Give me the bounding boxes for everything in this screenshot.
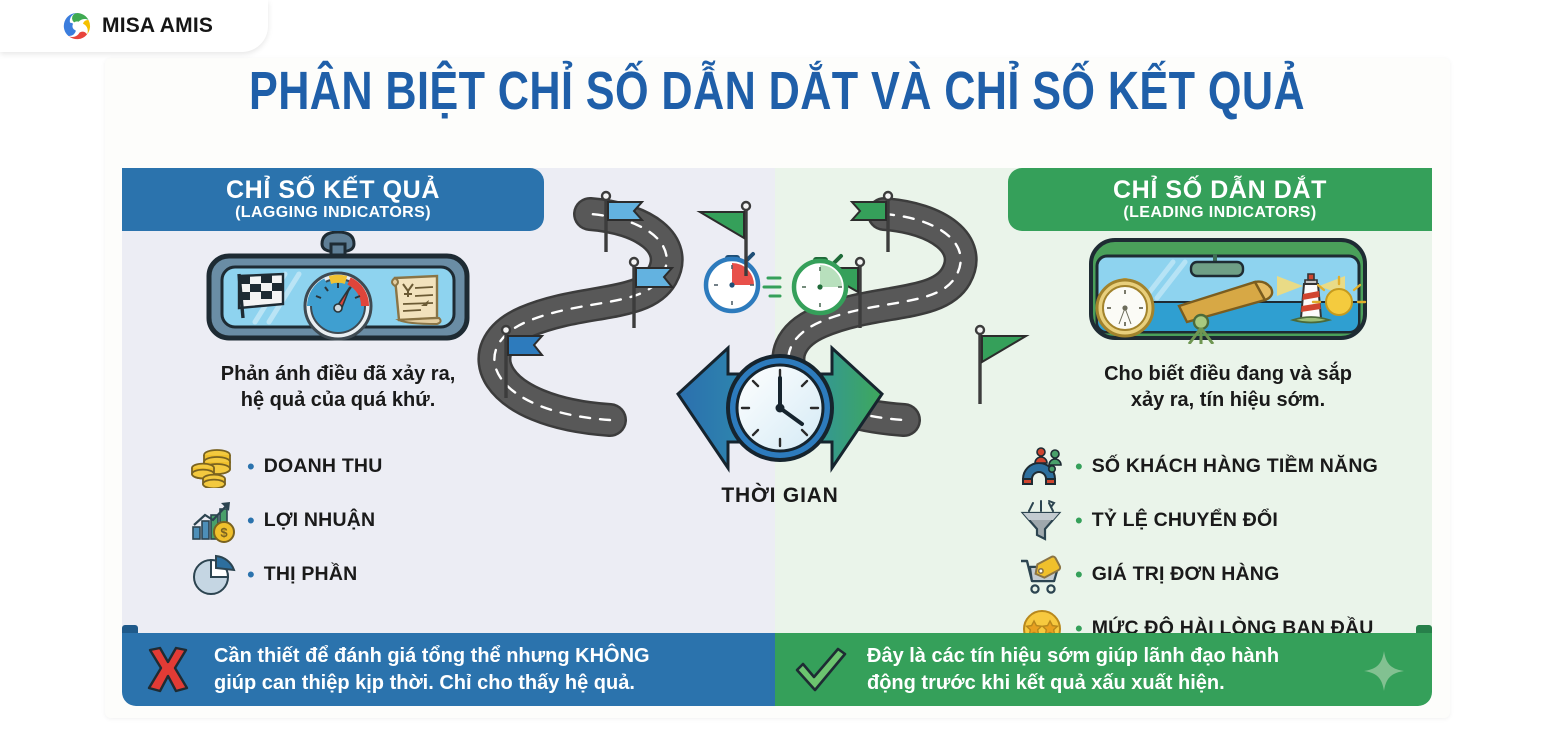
header-lagging-subtitle: (LAGGING INDICATORS)	[235, 205, 431, 222]
growth-chart-dollar-icon: $	[190, 498, 238, 544]
svg-text:$: $	[220, 525, 228, 540]
list-item-label: TỶ LỆ CHUYỂN ĐỔI	[1092, 509, 1278, 532]
footer-lagging: Cần thiết để đánh giá tổng thể nhưng KHÔ…	[122, 633, 775, 706]
brand-name: MISA AMIS	[102, 14, 213, 38]
bullet-dot: •	[1075, 456, 1083, 478]
bullet-dot: •	[1075, 564, 1083, 586]
leading-kpi-list: • SỐ KHÁCH HÀNG TIỀM NĂNG • TỶ LỆ CHUYỂN…	[1018, 440, 1438, 656]
list-item: • GIÁ TRỊ ĐƠN HÀNG	[1018, 548, 1438, 602]
bullet-dot: •	[247, 456, 255, 478]
pie-chart-icon	[190, 552, 238, 598]
list-item: • THỊ PHẦN	[128, 548, 548, 602]
bullet-dot: •	[247, 564, 255, 586]
list-item-label: SỐ KHÁCH HÀNG TIỀM NĂNG	[1092, 455, 1378, 478]
windshield-compass-telescope-lighthouse-icon	[1018, 225, 1438, 345]
list-item-label: LỢI NHUẬN	[264, 509, 376, 532]
stopwatch-green-icon	[764, 256, 846, 313]
footer-leading-text: Đây là các tín hiệu sớm giúp lãnh đạo hà…	[867, 643, 1279, 696]
lagging-blurb: Phản ánh điều đã xảy ra, hệ quả của quá …	[128, 361, 548, 414]
list-item: • DOANH THU	[128, 440, 548, 494]
list-item: • SỐ KHÁCH HÀNG TIỀM NĂNG	[1018, 440, 1438, 494]
leading-column: Cho biết điều đang và sắp xảy ra, tín hi…	[1018, 225, 1438, 656]
header-leading-title: CHỈ SỐ DẪN DẮT	[1113, 177, 1327, 204]
center-illustration	[470, 168, 1090, 633]
list-item-label: THỊ PHẦN	[264, 563, 358, 586]
header-leading: CHỈ SỐ DẪN DẮT (LEADING INDICATORS)	[1008, 168, 1432, 231]
list-item-label: DOANH THU	[264, 455, 383, 478]
list-item: $ • LỢI NHUẬN	[128, 494, 548, 548]
bullet-dot: •	[1075, 510, 1083, 532]
shopping-cart-tag-icon	[1018, 552, 1066, 598]
leading-blurb: Cho biết điều đang và sắp xảy ra, tín hi…	[1018, 361, 1438, 414]
misa-swirl-icon	[62, 11, 92, 41]
lagging-column: Phản ánh điều đã xảy ra, hệ quả của quá …	[128, 225, 548, 602]
stopwatch-red-icon	[706, 254, 758, 311]
bullet-dot: •	[247, 510, 255, 532]
page-title: PHÂN BIỆT CHỈ SỐ DẪN DẮT VÀ CHỈ SỐ KẾT Q…	[155, 60, 1398, 122]
header-leading-subtitle: (LEADING INDICATORS)	[1123, 205, 1316, 222]
sparkle-icon	[1364, 651, 1404, 691]
funnel-icon	[1018, 498, 1066, 544]
center-stage: THỜI GIAN	[470, 168, 1090, 633]
clock-icon	[728, 356, 832, 460]
header-lagging: CHỈ SỐ KẾT QUẢ (LAGGING INDICATORS)	[122, 168, 544, 231]
rearview-mirror-icon	[128, 225, 548, 345]
footer-lagging-text: Cần thiết để đánh giá tổng thể nhưng KHÔ…	[214, 643, 650, 696]
coins-icon	[190, 444, 238, 490]
header-lagging-title: CHỈ SỐ KẾT QUẢ	[226, 177, 440, 204]
green-check-icon	[775, 633, 867, 706]
list-item-label: GIÁ TRỊ ĐƠN HÀNG	[1092, 563, 1280, 586]
list-item: • TỶ LỆ CHUYỂN ĐỔI	[1018, 494, 1438, 548]
time-label: THỜI GIAN	[470, 484, 1090, 508]
lagging-kpi-list: • DOANH THU $ • LỢI NHU	[128, 440, 548, 602]
magnet-leads-icon	[1018, 444, 1066, 490]
footer-leading: Đây là các tín hiệu sớm giúp lãnh đạo hà…	[775, 633, 1432, 706]
brand-logo: MISA AMIS	[0, 0, 268, 52]
red-cross-icon	[122, 633, 214, 706]
